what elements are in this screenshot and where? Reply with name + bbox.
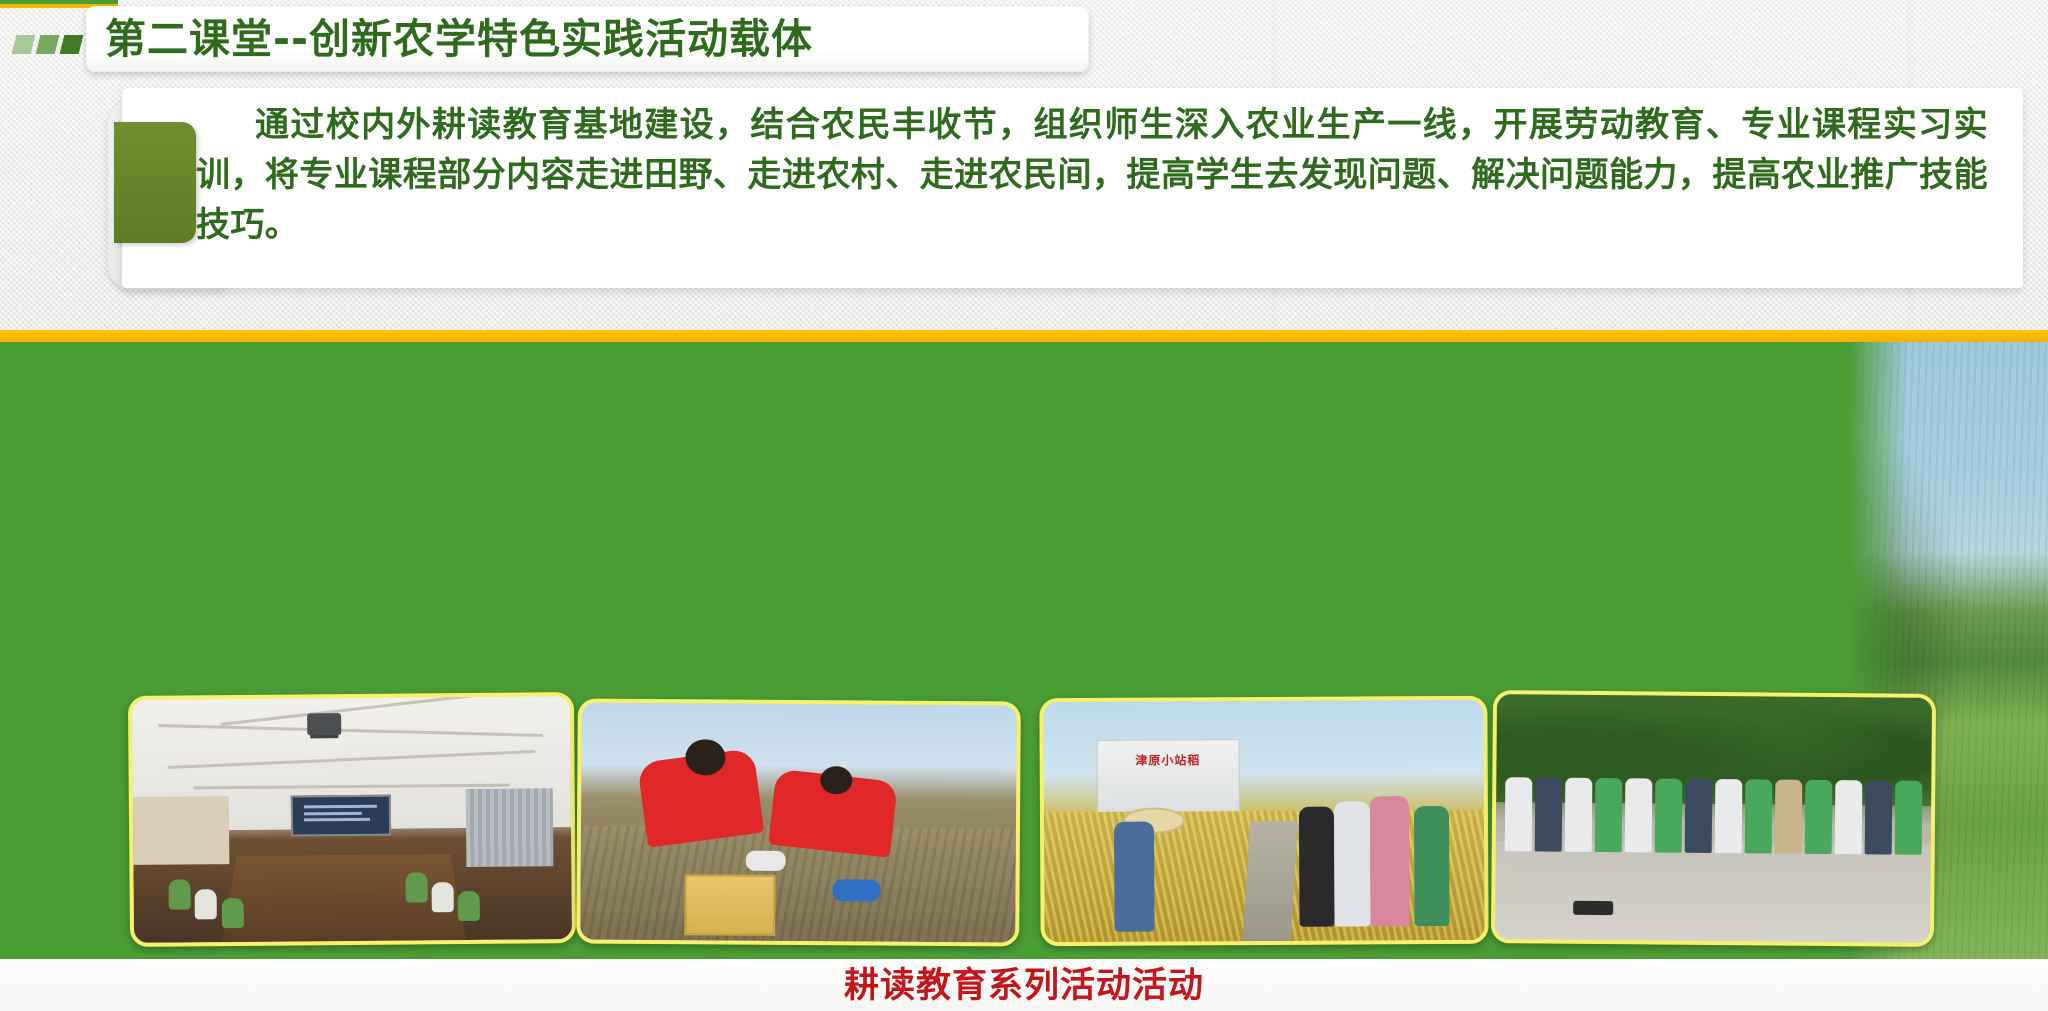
standing-person [1299, 806, 1335, 926]
photo-4-content [1495, 694, 1932, 943]
ceiling-beam [168, 750, 536, 769]
building-sign-text: 津原小站稻 [1109, 751, 1227, 769]
parallelogram-mark-mid-icon [36, 35, 60, 54]
seated-person [458, 891, 480, 921]
ceiling-beam [194, 783, 509, 789]
student [1564, 778, 1592, 852]
student [1745, 780, 1773, 854]
warehouse-building: 津原小站稻 [1096, 740, 1239, 815]
sample-box [685, 874, 776, 936]
student [1595, 778, 1623, 852]
title-decoration-marks [14, 32, 86, 56]
seated-person [431, 882, 453, 912]
student-crowd [1504, 777, 1922, 854]
paved-road [1495, 841, 1931, 943]
student [1775, 780, 1803, 854]
gallery-photo-3[interactable]: 津原小站稻 [1039, 696, 1488, 946]
standing-person [1334, 801, 1370, 926]
standing-person [1114, 822, 1154, 933]
ceiling-beam [159, 724, 544, 737]
gold-divider-bar [0, 330, 2048, 342]
student [1715, 779, 1743, 853]
person-head [820, 766, 852, 794]
student [1685, 779, 1713, 853]
seated-person [221, 898, 243, 928]
body-paragraph: 通过校内外耕读教育基地建设，结合农民丰收节，组织师生深入农业生产一线，开展劳动教… [196, 100, 1988, 280]
photo-1-wall [133, 796, 230, 865]
seated-person [169, 879, 191, 909]
field-path [1243, 821, 1299, 941]
gallery-photo-4[interactable] [1491, 690, 1936, 947]
person-head [686, 739, 726, 775]
standing-person [1369, 796, 1409, 926]
drone-icon [1573, 901, 1613, 915]
student [1625, 779, 1653, 853]
page-title: 第二课堂--创新农学特色实践活动载体 [105, 19, 813, 60]
shoe [833, 880, 881, 902]
seated-person [405, 872, 427, 902]
student [1835, 780, 1863, 854]
photo-gallery-band: 津原小站稻 [0, 342, 2048, 959]
photo-1-content [132, 696, 572, 943]
student [1655, 779, 1683, 853]
projector-icon [307, 713, 341, 735]
standing-person [1414, 806, 1450, 926]
body-panel-olive-tab [114, 122, 196, 243]
photo-1-curtain [466, 789, 554, 868]
student [1865, 781, 1893, 855]
gallery-photo-1[interactable] [128, 692, 576, 947]
student [1504, 777, 1532, 851]
student [1534, 778, 1562, 852]
photo-3-content: 津原小站稻 [1043, 700, 1484, 942]
gallery-photo-2[interactable] [576, 698, 1021, 946]
ceiling-beam [220, 694, 481, 727]
parallelogram-mark-dark-icon [60, 35, 84, 54]
parallelogram-mark-light-icon [12, 35, 36, 54]
body-line-1: 通过校内外耕读教育基地建设，结合农民丰收节，组织师生深入农业生产一线，开展劳动教… [254, 105, 1741, 145]
shoe [746, 851, 786, 871]
seated-person [195, 889, 217, 919]
student [1895, 781, 1923, 855]
conference-table [222, 854, 466, 942]
student [1805, 780, 1833, 854]
photo-2-content [580, 702, 1017, 942]
presentation-screen [290, 795, 391, 836]
slide-title-card: 第二课堂--创新农学特色实践活动载体 [86, 6, 1089, 72]
gallery-caption: 耕读教育系列活动活动 [0, 962, 2048, 1010]
